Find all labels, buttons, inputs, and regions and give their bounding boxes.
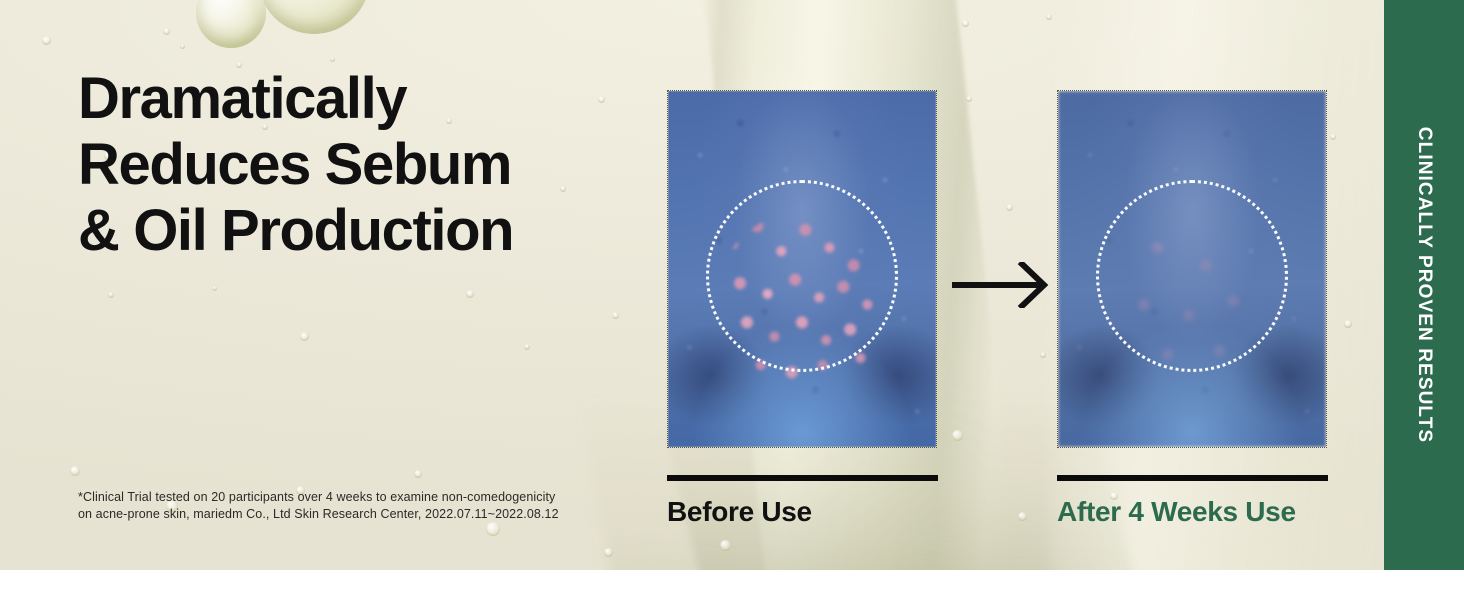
after-photo xyxy=(1057,90,1327,448)
bubble-speck xyxy=(180,44,185,49)
dotted-circle-highlight-icon xyxy=(706,180,898,372)
bubble-speck xyxy=(108,292,114,298)
before-caption-rule xyxy=(667,475,938,481)
clinical-results-banner: Dramatically Reduces Sebum & Oil Product… xyxy=(0,0,1464,570)
bubble-speck xyxy=(212,286,217,291)
bubble-speck xyxy=(330,57,335,62)
bubble-speck xyxy=(466,290,474,298)
bubble-speck xyxy=(163,28,170,35)
dotted-circle-highlight-icon xyxy=(1096,180,1288,372)
bubble-speck xyxy=(42,36,51,45)
clinical-trial-footnote: *Clinical Trial tested on 20 participant… xyxy=(78,489,559,523)
bubble-speck xyxy=(1018,512,1027,521)
bubble-speck xyxy=(1046,14,1052,20)
bubble-speck xyxy=(1330,134,1336,140)
bubble-speck xyxy=(524,344,530,350)
sidebar-label: CLINICALLY PROVEN RESULTS xyxy=(1413,127,1435,443)
bubble-speck xyxy=(1040,352,1046,358)
bubble-speck xyxy=(486,522,500,536)
bubble-speck xyxy=(962,20,969,27)
bubble-speck xyxy=(414,470,422,478)
bubble-speck xyxy=(720,540,731,551)
bubble-speck xyxy=(300,332,309,341)
after-caption-rule xyxy=(1057,475,1328,481)
clinically-proven-results-band: CLINICALLY PROVEN RESULTS xyxy=(1384,0,1464,570)
bubble-speck xyxy=(966,96,972,102)
page-title: Dramatically Reduces Sebum & Oil Product… xyxy=(78,66,513,264)
before-caption: Before Use xyxy=(667,496,812,528)
bubble-speck xyxy=(1006,204,1013,211)
bubble-speck xyxy=(560,186,566,192)
bubble-speck xyxy=(70,466,80,476)
before-photo xyxy=(667,90,937,448)
bubble-speck xyxy=(604,548,613,557)
after-caption: After 4 Weeks Use xyxy=(1057,496,1296,528)
bubble-speck xyxy=(598,96,605,103)
right-arrow-icon xyxy=(950,262,1050,308)
bubble-speck xyxy=(612,312,619,319)
bubble-speck xyxy=(952,430,963,441)
bubble-speck xyxy=(1344,320,1352,328)
